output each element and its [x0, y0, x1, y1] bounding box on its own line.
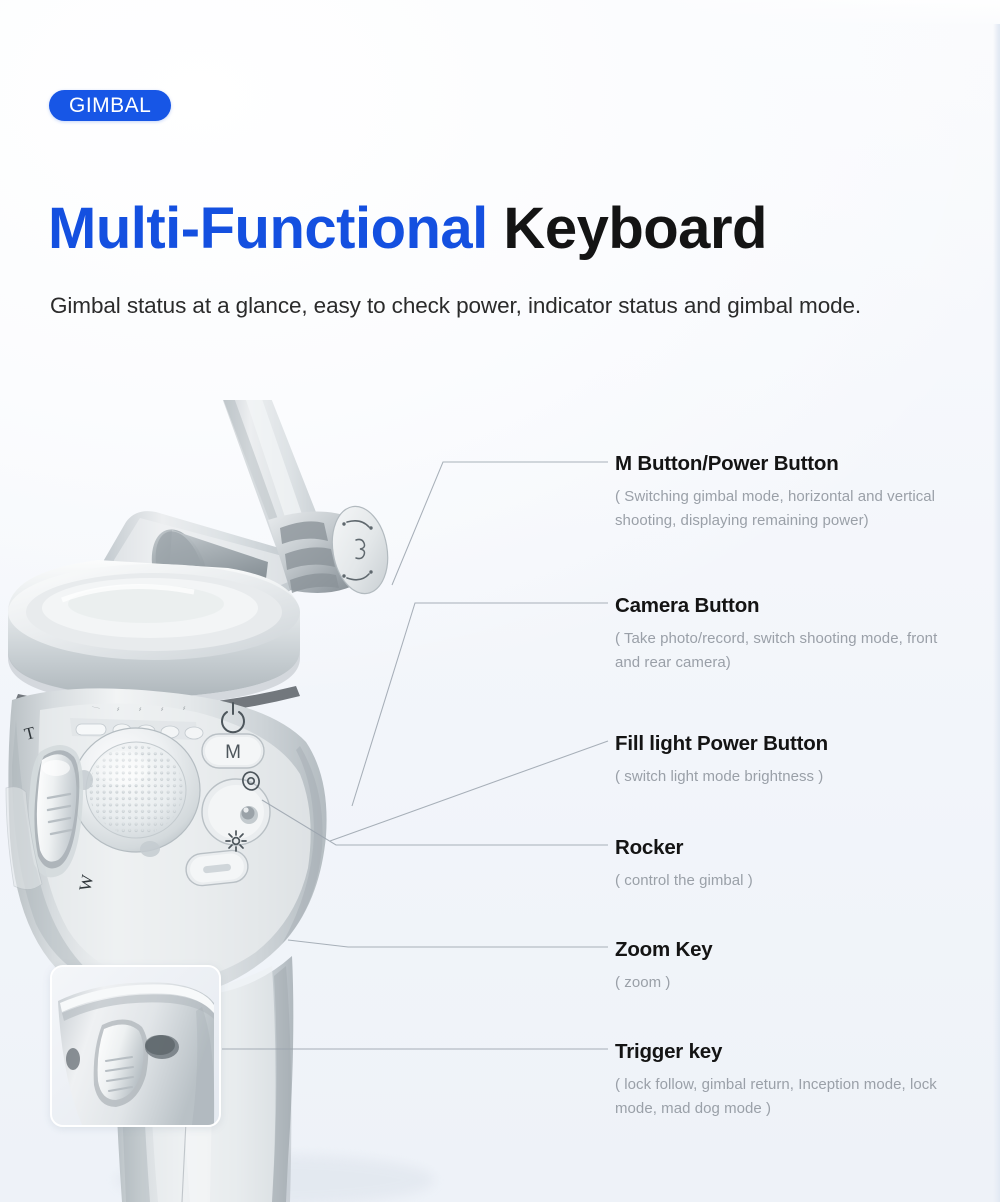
infographic-page: GIMBAL Multi-Functional Keyboard Gimbal …: [0, 0, 1000, 1202]
category-badge: GIMBAL: [49, 90, 171, 121]
callout-description: ( lock follow, gimbal return, Inception …: [615, 1073, 960, 1122]
page-title-highlight: Multi-Functional: [48, 196, 488, 261]
page-title: Multi-Functional Keyboard: [48, 200, 767, 258]
callout-title: Trigger key: [615, 1040, 960, 1064]
page-title-rest: Keyboard: [488, 196, 767, 261]
svg-text:M: M: [225, 742, 241, 763]
callout-title: Fill light Power Button: [615, 732, 828, 756]
callout-description: ( switch light mode brightness ): [615, 765, 828, 789]
gimbal-pan-ring: [8, 560, 300, 706]
callout-camera-button: Camera Button ( Take photo/record, switc…: [615, 594, 960, 675]
callout-trigger-key: Trigger key ( lock follow, gimbal return…: [615, 1040, 960, 1121]
trigger-key-detail-inset: [50, 965, 221, 1127]
callout-description: ( Switching gimbal mode, horizontal and …: [615, 485, 960, 534]
callout-fill-light-button: Fill light Power Button ( switch light m…: [615, 732, 828, 789]
callout-zoom-key: Zoom Key ( zoom ): [615, 938, 713, 995]
callout-description: ( zoom ): [615, 971, 713, 995]
callout-title: Zoom Key: [615, 938, 713, 962]
callout-title: M Button/Power Button: [615, 452, 960, 476]
callout-description: ( Take photo/record, switch shooting mod…: [615, 627, 960, 676]
callout-m-power-button: M Button/Power Button ( Switching gimbal…: [615, 452, 960, 533]
callout-title: Camera Button: [615, 594, 960, 618]
callout-description: ( control the gimbal ): [615, 869, 753, 893]
gimbal-m-button: M: [202, 734, 264, 768]
category-badge-label: GIMBAL: [69, 94, 151, 118]
callout-title: Rocker: [615, 836, 753, 860]
page-subtitle: Gimbal status at a glance, easy to check…: [50, 293, 861, 319]
callout-rocker: Rocker ( control the gimbal ): [615, 836, 753, 893]
